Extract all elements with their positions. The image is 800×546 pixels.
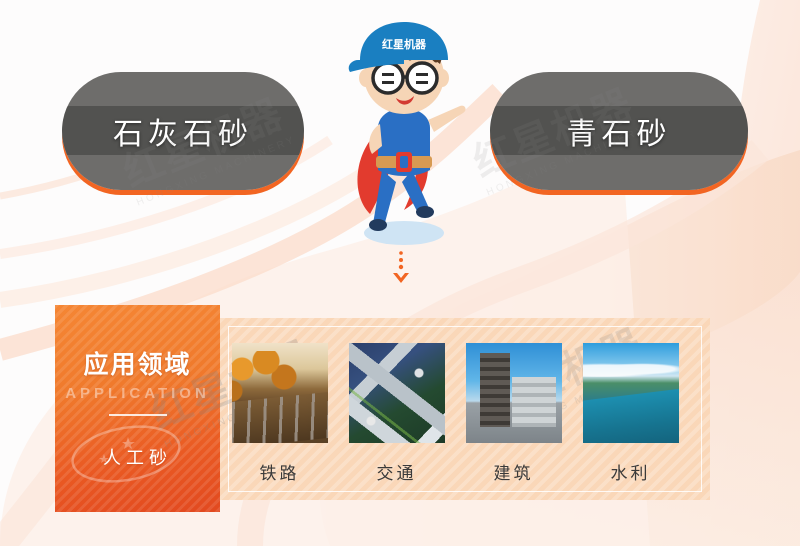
application-section: 应用领域 APPLICATION 人工砂 铁路 交通 建筑 [55, 305, 710, 512]
product-card-blue-stone-sand[interactable]: 青石砂 [490, 72, 748, 190]
cap-text: 红星机器 [382, 37, 427, 51]
application-item-construction[interactable]: 建筑 [461, 343, 566, 484]
eye-right [416, 73, 428, 76]
product-card-label: 青石砂 [490, 72, 748, 190]
application-title-panel: 应用领域 APPLICATION 人工砂 [55, 305, 220, 512]
eye-right-lower [416, 81, 428, 84]
application-title-cn: 应用领域 [55, 345, 220, 381]
shoe-left [369, 219, 387, 231]
poster-canvas: 石灰石砂 青石砂 [0, 0, 800, 546]
mascot-character: 红星机器 [330, 20, 480, 260]
ear-left [359, 69, 373, 87]
glasses-lens-right [407, 63, 437, 93]
product-card-label: 石灰石砂 [62, 72, 304, 190]
application-item-railway[interactable]: 铁路 [227, 343, 332, 484]
city-buildings-photo [466, 343, 562, 443]
mascot-illustration: 红星机器 [330, 20, 480, 260]
arrow-head [393, 273, 409, 283]
shoe-right [416, 206, 434, 218]
application-item-label: 建筑 [461, 459, 566, 484]
application-item-label: 交通 [344, 459, 449, 484]
belt-buckle-hole [400, 156, 408, 168]
glasses-lens-left [373, 63, 403, 93]
application-cards-panel: 铁路 交通 建筑 水利 [220, 318, 710, 500]
title-divider [109, 414, 167, 416]
application-item-label: 铁路 [227, 459, 332, 484]
application-item-transport[interactable]: 交通 [344, 343, 449, 484]
arrow-svg [386, 250, 416, 290]
application-subtitle: 人工砂 [55, 444, 220, 470]
application-item-label: 水利 [578, 459, 683, 484]
product-card-lime-stone-sand[interactable]: 石灰石砂 [62, 72, 304, 190]
highway-interchange-photo [349, 343, 445, 443]
application-item-water[interactable]: 水利 [578, 343, 683, 484]
dotted-down-arrow-icon [386, 250, 416, 290]
arm-right-pointing [428, 106, 466, 132]
railway-photo [232, 343, 328, 443]
application-title-en: APPLICATION [55, 385, 220, 402]
water-conservancy-photo [583, 343, 679, 443]
eye-left-lower [382, 81, 394, 84]
eye-left [382, 73, 394, 76]
application-items-list: 铁路 交通 建筑 水利 [220, 318, 710, 484]
